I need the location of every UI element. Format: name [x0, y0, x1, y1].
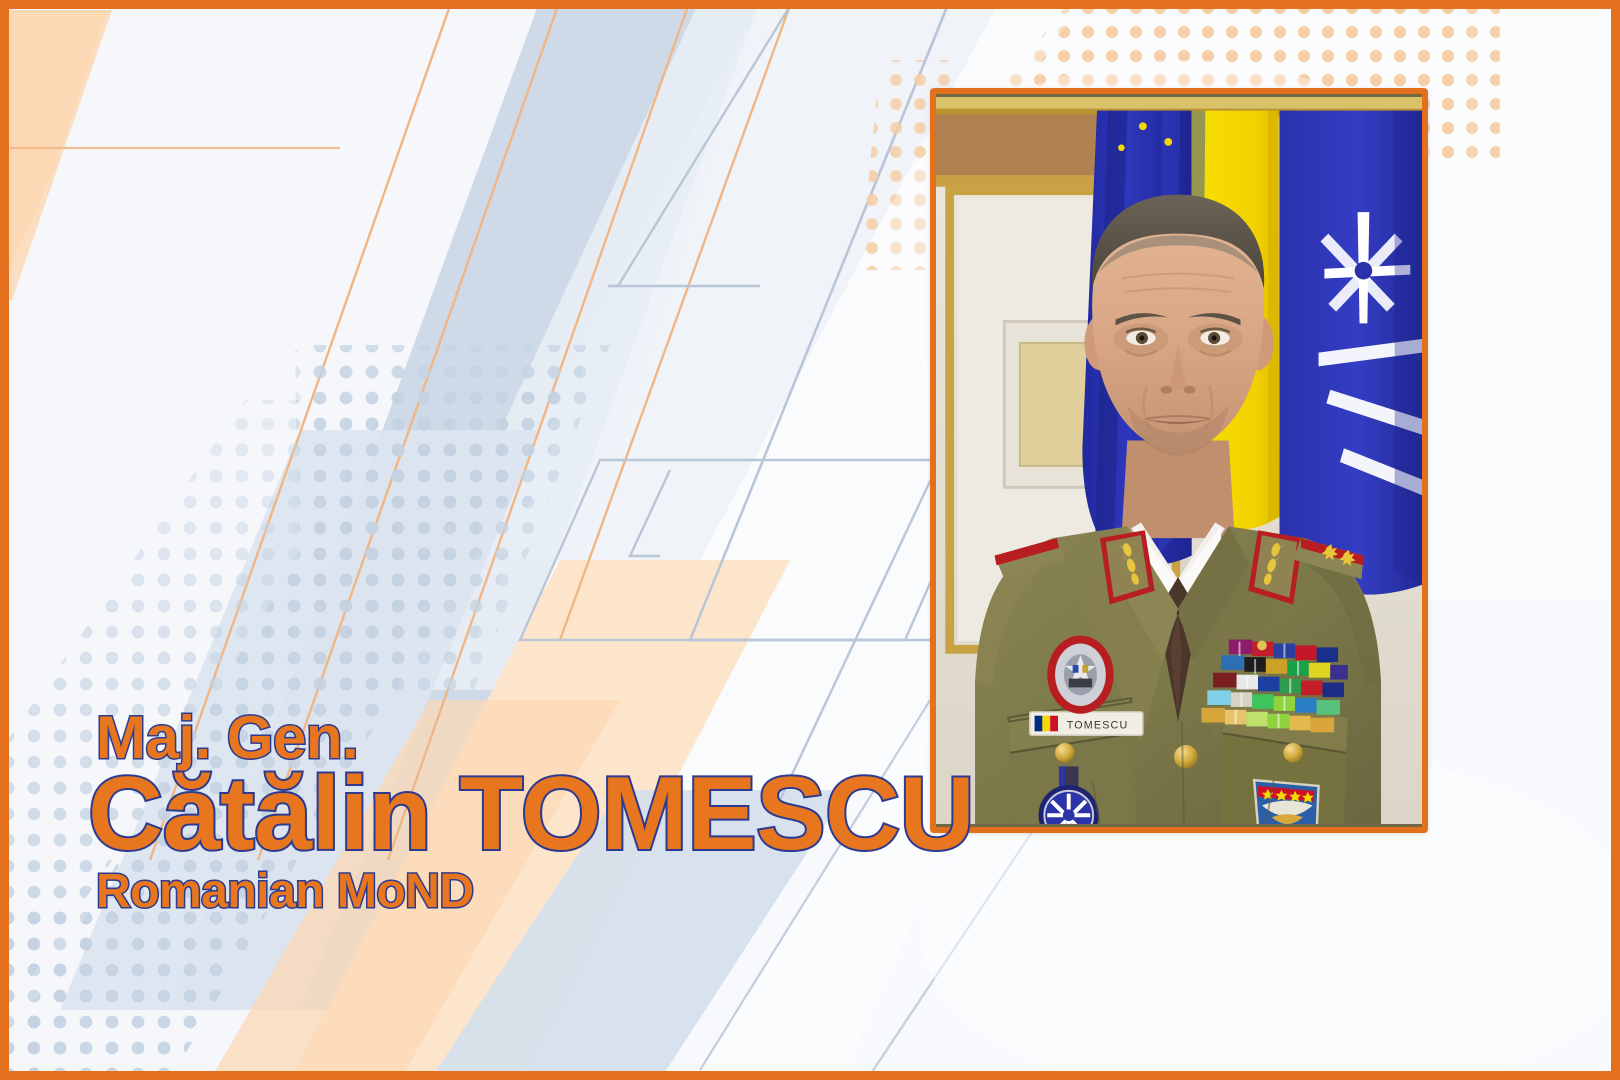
- svg-text:TOMESCU: TOMESCU: [1067, 719, 1129, 731]
- speaker-name-block: Maj. Gen. Cătălin TOMESCU Romanian MoND: [88, 708, 974, 916]
- portrait-photo: TOMESCU: [930, 88, 1428, 833]
- speaker-organization: Romanian MoND: [96, 868, 974, 916]
- presentation-slide: TOMESCU: [0, 0, 1620, 1080]
- speaker-name: Cătălin TOMESCU: [88, 762, 974, 866]
